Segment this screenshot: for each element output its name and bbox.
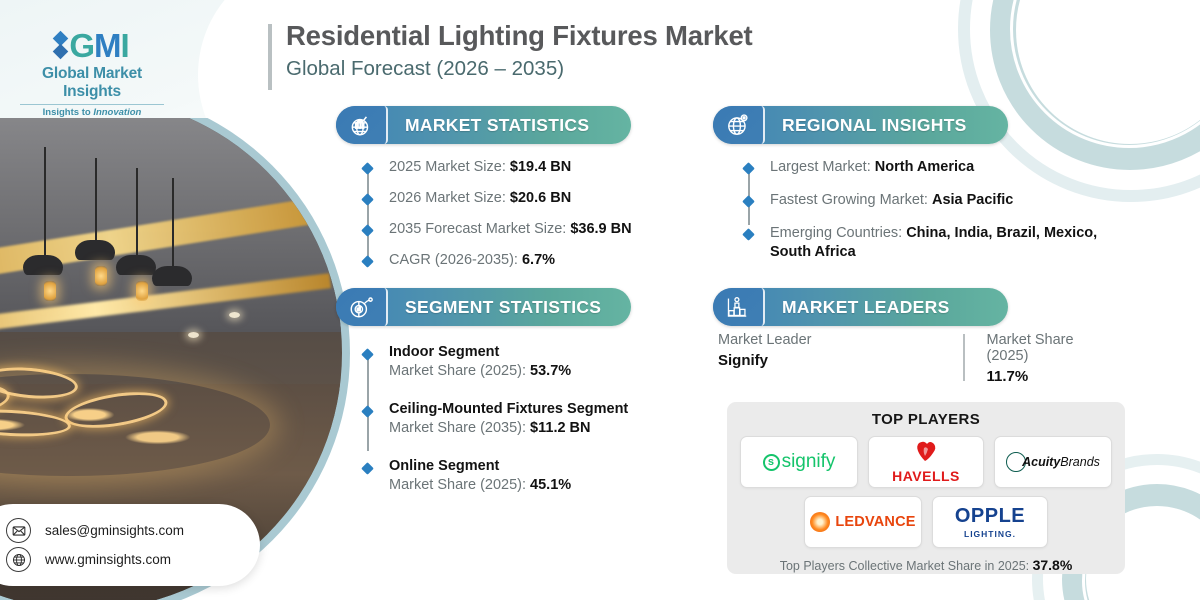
market-share-label: Market Share (2025) — [987, 332, 1118, 364]
list-item: 2035 Forecast Market Size: $36.9 BN — [361, 220, 691, 239]
market-leaders-title: MARKET LEADERS — [765, 297, 950, 318]
list-item-value: $19.4 BN — [510, 159, 571, 175]
logo-tagline-prefix: Insights to — [43, 107, 94, 118]
regional-insights-header: REGIONAL INSIGHTS — [713, 106, 1008, 144]
pendant-shade-1 — [23, 255, 63, 275]
segment-label: Market Share (2025): — [389, 363, 530, 379]
logo-tagline-emphasis: Innovation — [93, 107, 141, 118]
infographic-canvas: GMI Global Market Insights Insights to I… — [0, 0, 1200, 600]
list-item-value: 6.7% — [522, 252, 555, 268]
top-players-footer-label: Top Players Collective Market Share in 2… — [780, 559, 1033, 573]
list-item: 2025 Market Size: $19.4 BN — [361, 158, 691, 177]
contact-email: sales@gminsights.com — [45, 523, 184, 538]
opple-wordmark: OPPLE — [955, 505, 1025, 527]
list-item: CAGR (2026-2035): 6.7% — [361, 251, 691, 270]
logo-diamond-icon — [55, 33, 66, 57]
list-item: Fastest Growing Market: Asia Pacific — [742, 191, 1112, 210]
logo-tagline: Insights to Innovation — [12, 107, 172, 118]
contact-panel: sales@gminsights.com www.gminsights.com — [0, 504, 260, 586]
signify-wordmark: Signify — [782, 451, 836, 473]
market-share-block: Market Share (2025) 11.7% — [987, 332, 1118, 385]
list-item-label: 2026 Market Size: — [389, 190, 510, 206]
player-logo-ledvance: LEDVANCE — [804, 496, 922, 548]
pendant-bulb-3 — [136, 281, 148, 301]
logo-letters: GMI — [69, 29, 128, 62]
pendant-cord-4 — [172, 178, 174, 276]
player-logo-opple: OPPLE LIGHTING. — [932, 496, 1048, 548]
market-leader-block: Market Leader Signify — [718, 332, 963, 385]
signify-s-icon: s — [763, 454, 780, 471]
market-leaders-divider — [963, 334, 964, 381]
segment-statistics-title: SEGMENT STATISTICS — [388, 297, 601, 318]
top-players-row-2: LEDVANCE OPPLE LIGHTING. — [739, 496, 1113, 548]
list-item-label: Largest Market: — [770, 159, 875, 175]
segment-value: 53.7% — [530, 363, 571, 379]
havells-mark-icon — [909, 440, 943, 462]
segment-label: Market Share (2035): — [389, 420, 530, 436]
market-leader-label: Market Leader — [718, 332, 963, 348]
top-players-footer: Top Players Collective Market Share in 2… — [739, 557, 1113, 573]
player-logo-signify: sSignify — [740, 436, 858, 488]
market-leader-value: Signify — [718, 352, 963, 369]
pendant-cord-1 — [44, 147, 46, 260]
list-item-label: Fastest Growing Market: — [770, 192, 932, 208]
pendant-bulb-2 — [95, 266, 107, 286]
segment-value: $11.2 BN — [530, 420, 590, 436]
timeline-connector — [367, 166, 369, 261]
player-logo-havells: HAVELLS — [868, 436, 984, 488]
logo-company-name: Global Market Insights — [12, 65, 172, 101]
logo-divider — [20, 104, 164, 105]
list-item-label: 2035 Forecast Market Size: — [389, 221, 570, 237]
pendant-shade-2 — [75, 240, 115, 260]
player-logo-acuitybrands: AcuityBrands — [994, 436, 1112, 488]
top-players-footer-value: 37.8% — [1033, 557, 1073, 573]
list-item-value: Asia Pacific — [932, 192, 1013, 208]
opple-logo: OPPLE LIGHTING. — [955, 506, 1025, 539]
pendant-bulb-1 — [44, 281, 56, 301]
segment-label: Market Share (2025): — [389, 477, 530, 493]
list-item: Ceiling-Mounted Fixtures Segment Market … — [361, 401, 691, 436]
segment-statistics-header: SEGMENT STATISTICS — [336, 288, 631, 326]
list-item: Largest Market: North America — [742, 158, 1112, 177]
acuity-wordmark-bold: Acuity — [1022, 455, 1060, 469]
opple-sub-wordmark: LIGHTING. — [955, 529, 1025, 539]
downlight-3 — [188, 332, 199, 338]
pendant-shade-4 — [152, 266, 192, 286]
market-statistics-list: 2025 Market Size: $19.4 BN 2026 Market S… — [361, 158, 691, 271]
contact-email-row[interactable]: sales@gminsights.com — [6, 516, 260, 545]
logo-mark: GMI — [12, 28, 172, 62]
top-players-row-1: sSignify HAVELLS AcuityBrands — [739, 436, 1113, 488]
envelope-icon — [6, 518, 31, 543]
market-leaders-header: MARKET LEADERS — [713, 288, 1008, 326]
segment-value: 45.1% — [530, 477, 571, 493]
globe-pin-icon — [713, 106, 765, 144]
list-item: Indoor Segment Market Share (2025): 53.7… — [361, 344, 691, 379]
segment-title: Indoor Segment — [389, 344, 691, 360]
list-item: 2026 Market Size: $20.6 BN — [361, 189, 691, 208]
market-statistics-header: MARKET STATISTICS — [336, 106, 631, 144]
list-item-label: CAGR (2026-2035): — [389, 252, 522, 268]
globe-chart-icon — [336, 106, 388, 144]
acuity-wordmark-light: Brands — [1060, 455, 1100, 469]
pie-target-icon — [336, 288, 388, 326]
ledvance-wordmark: LEDVANCE — [835, 514, 915, 530]
downlight-4 — [229, 312, 240, 318]
list-item-value: $36.9 BN — [570, 221, 631, 237]
havells-wordmark: HAVELLS — [892, 468, 960, 484]
pendant-shade-3 — [116, 255, 156, 275]
regional-insights-list: Largest Market: North America Fastest Gr… — [742, 158, 1112, 263]
ledvance-logo: LEDVANCE — [810, 512, 915, 532]
top-players-title: TOP PLAYERS — [739, 411, 1113, 428]
segment-title: Online Segment — [389, 458, 691, 474]
page-title: Residential Lighting Fixtures Market — [286, 20, 753, 52]
list-item-value: North America — [875, 159, 974, 175]
ledvance-orb-icon — [810, 512, 830, 532]
list-item-value: $20.6 BN — [510, 190, 571, 206]
list-item-label: 2025 Market Size: — [389, 159, 510, 175]
market-statistics-title: MARKET STATISTICS — [388, 115, 589, 136]
segment-statistics-list: Indoor Segment Market Share (2025): 53.7… — [361, 344, 691, 493]
signify-logo: sSignify — [763, 451, 836, 473]
page-title-block: Residential Lighting Fixtures Market Glo… — [268, 20, 753, 81]
havells-logo: HAVELLS — [892, 440, 960, 484]
page-subtitle: Global Forecast (2026 – 2035) — [286, 57, 753, 81]
podium-icon — [713, 288, 765, 326]
globe-icon — [6, 547, 31, 572]
acuitybrands-logo: AcuityBrands — [1006, 452, 1100, 472]
segment-title: Ceiling-Mounted Fixtures Segment — [389, 401, 691, 417]
list-item-label: Emerging Countries: — [770, 225, 906, 241]
gmi-logo: GMI Global Market Insights Insights to I… — [12, 28, 172, 118]
contact-website: www.gminsights.com — [45, 552, 171, 567]
contact-website-row[interactable]: www.gminsights.com — [6, 545, 260, 574]
list-item: Online Segment Market Share (2025): 45.1… — [361, 458, 691, 493]
top-players-panel: TOP PLAYERS sSignify HAVELLS AcuityBr — [727, 402, 1125, 574]
list-item: Emerging Countries: China, India, Brazil… — [742, 224, 1112, 262]
market-share-value: 11.7% — [987, 368, 1118, 385]
regional-insights-title: REGIONAL INSIGHTS — [765, 115, 967, 136]
market-leaders-body: Market Leader Signify Market Share (2025… — [718, 332, 1118, 385]
